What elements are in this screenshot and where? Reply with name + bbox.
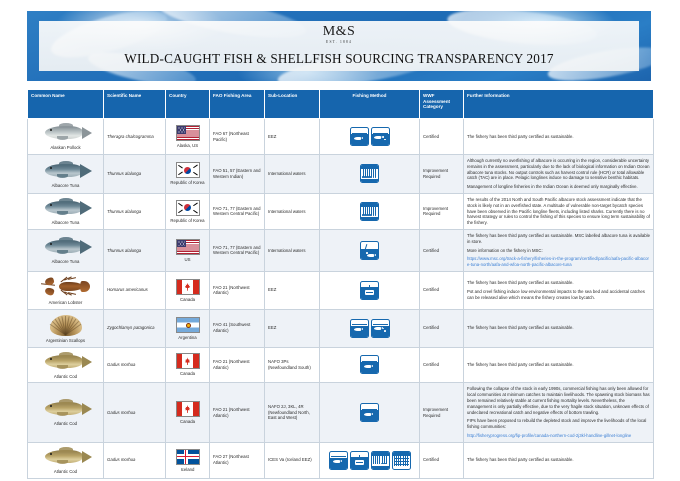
- cell-sub-location: EEZ: [265, 271, 320, 309]
- country-label: Alaska, US: [177, 143, 198, 148]
- cell-fao-area: FAO 67 (Northeast Pacific): [210, 119, 265, 155]
- species-illustration: [39, 122, 93, 144]
- cell-wwf-assessment: Improvement Required: [420, 193, 464, 229]
- cell-fishing-method: [320, 442, 420, 478]
- cell-fishing-method: [320, 383, 420, 442]
- cell-scientific-name: Thunnus alalunga: [104, 229, 166, 271]
- gillnet-icon: [392, 451, 411, 470]
- sourcing-table: Common Name Scientific Name Country FAO …: [27, 89, 654, 479]
- cell-further-information: The fishery has been third party certifi…: [464, 309, 654, 347]
- table-row: Argentinian ScallopsZygochlamys patagoni…: [28, 309, 654, 347]
- species-illustration: [39, 351, 93, 373]
- trawl-icon: [329, 451, 348, 470]
- cell-common-name: Atlantic Cod: [28, 347, 104, 383]
- cell-sub-location: ICES Va (Iceland EEZ): [265, 442, 320, 478]
- longline-icon: [371, 451, 390, 470]
- info-paragraph: More information on the fishery in MSC:: [467, 248, 650, 254]
- cell-fishing-method: [320, 193, 420, 229]
- table-row: Albacore TunaThunnus alalungaRepublic of…: [28, 155, 654, 194]
- cell-fao-area: FAO 71, 77 (Eastern and Western Central …: [210, 229, 265, 271]
- cell-wwf-assessment: Certified: [420, 271, 464, 309]
- cell-scientific-name: Gadus morhua: [104, 383, 166, 442]
- cell-fao-area: FAO 41 (Southwest Atlantic): [210, 309, 265, 347]
- cell-fao-area: FAO 21 (Northwest Atlantic): [210, 271, 265, 309]
- info-paragraph: Although currently no overfishing of alb…: [467, 158, 650, 181]
- species-illustration: [39, 160, 93, 182]
- cell-further-information: The fishery has been third party certifi…: [464, 119, 654, 155]
- species-illustration: [39, 236, 93, 258]
- cell-sub-location: EEZ: [265, 119, 320, 155]
- cell-fao-area: FAO 21 (Northwest Atlantic): [210, 347, 265, 383]
- seine-icon: [371, 319, 390, 338]
- header-banner: M&S EST. 1884 WILD-CAUGHT FISH & SHELLFI…: [27, 11, 651, 81]
- cell-country: US: [166, 229, 210, 271]
- cell-country: Canada: [166, 347, 210, 383]
- external-link[interactable]: http://fisheryprogress.org/fip-profile/c…: [467, 433, 650, 439]
- table-row: Albacore TunaThunnus alalungaUSFAO 71, 7…: [28, 229, 654, 271]
- pot-creel-icon: [360, 281, 379, 300]
- cell-country: Republic of Korea: [166, 155, 210, 194]
- cell-further-information: The fishery has been third party certifi…: [464, 442, 654, 478]
- cell-scientific-name: Thunnus alalunga: [104, 155, 166, 194]
- trawl-icon: [360, 403, 379, 422]
- cell-sub-location: EEZ: [265, 309, 320, 347]
- common-name-label: Alaskan Pollock: [50, 145, 80, 151]
- info-paragraph: The results of the 2014 North and South …: [467, 197, 650, 226]
- cell-sub-location: International waters: [265, 155, 320, 194]
- table-row: Atlantic CodGadus morhuaCanadaFAO 21 (No…: [28, 383, 654, 442]
- table-body: Alaskan PollockTheragra chalcogrammaAlas…: [28, 119, 654, 478]
- cell-further-information: The results of the 2014 North and South …: [464, 193, 654, 229]
- cell-scientific-name: Zygochlamys patagonica: [104, 309, 166, 347]
- info-paragraph: The fishery has been third party certifi…: [467, 362, 650, 368]
- document-page: M&S EST. 1884 WILD-CAUGHT FISH & SHELLFI…: [0, 0, 680, 481]
- table-row: Albacore TunaThunnus alalungaRepublic of…: [28, 193, 654, 229]
- species-illustration: [39, 398, 93, 420]
- country-label: Iceland: [181, 467, 195, 472]
- trawl-icon: [350, 319, 369, 338]
- cell-sub-location: NAFO 2J, 3KL, 4R (Newfoundland North, Ea…: [265, 383, 320, 442]
- common-name-label: Argentinian Scallops: [46, 338, 85, 344]
- species-illustration: [39, 275, 93, 299]
- cell-fishing-method: [320, 155, 420, 194]
- argentina-flag: [176, 317, 200, 333]
- longline-icon: [360, 164, 379, 183]
- cell-fishing-method: [320, 347, 420, 383]
- common-name-label: Albacore Tuna: [52, 259, 80, 265]
- cell-sub-location: International waters: [265, 193, 320, 229]
- trawl-icon: [360, 355, 379, 374]
- cell-common-name: Albacore Tuna: [28, 193, 104, 229]
- cell-scientific-name: Homarus americanus: [104, 271, 166, 309]
- info-paragraph: The fishery has been third party certifi…: [467, 233, 650, 245]
- cell-country: Canada: [166, 383, 210, 442]
- col-common-name: Common Name: [28, 90, 104, 119]
- brand-logo: M&S: [323, 25, 356, 39]
- cell-common-name: Albacore Tuna: [28, 155, 104, 194]
- table-row: Atlantic CodGadus morhuaIcelandFAO 27 (N…: [28, 442, 654, 478]
- info-paragraph: Management of longline fisheries in the …: [467, 184, 650, 190]
- country-label: Canada: [180, 297, 195, 302]
- info-paragraph: The fishery has been third party certifi…: [467, 280, 650, 286]
- trawl-icon: [350, 127, 369, 146]
- info-paragraph: The fishery has been third party certifi…: [467, 457, 650, 463]
- cell-common-name: Albacore Tuna: [28, 229, 104, 271]
- cell-fao-area: FAO 51, 57 (Eastern and Western Indian): [210, 155, 265, 194]
- pole-line-icon: [360, 241, 379, 260]
- cell-common-name: Alaskan Pollock: [28, 119, 104, 155]
- col-fishing-method: Fishing Method: [320, 90, 420, 119]
- table-row: Atlantic CodGadus morhuaCanadaFAO 21 (No…: [28, 347, 654, 383]
- cell-wwf-assessment: Certified: [420, 309, 464, 347]
- species-illustration: [39, 446, 93, 468]
- col-sub-location: Sub-Location: [265, 90, 320, 119]
- cell-scientific-name: Gadus morhua: [104, 347, 166, 383]
- country-label: Canada: [180, 371, 195, 376]
- info-paragraph: The fishery has been third party certifi…: [467, 325, 650, 331]
- common-name-label: Atlantic Cod: [54, 374, 77, 380]
- cell-scientific-name: Gadus morhua: [104, 442, 166, 478]
- species-illustration: [39, 197, 93, 219]
- cell-scientific-name: Thunnus alalunga: [104, 193, 166, 229]
- cell-wwf-assessment: Improvement Required: [420, 155, 464, 194]
- cell-wwf-assessment: Certified: [420, 119, 464, 155]
- col-scientific-name: Scientific Name: [104, 90, 166, 119]
- table-row: Alaskan PollockTheragra chalcogrammaAlas…: [28, 119, 654, 155]
- brand-established: EST. 1884: [326, 41, 352, 45]
- col-fao-fishing-area: FAO Fishing Area: [210, 90, 265, 119]
- cell-fao-area: FAO 21 (Northwest Atlantic): [210, 383, 265, 442]
- cell-wwf-assessment: Certified: [420, 442, 464, 478]
- info-paragraph: FIPs have been proposed to rebuild the d…: [467, 418, 650, 430]
- cell-common-name: Atlantic Cod: [28, 442, 104, 478]
- cell-fishing-method: [320, 119, 420, 155]
- pot-creel-icon: [350, 451, 369, 470]
- cell-further-information: Following the collapse of the stock in e…: [464, 383, 654, 442]
- cell-fao-area: FAO 27 (Northeast Atlantic): [210, 442, 265, 478]
- cell-further-information: The fishery has been third party certifi…: [464, 229, 654, 271]
- country-label: Republic of Korea: [170, 218, 204, 223]
- cell-country: Alaska, US: [166, 119, 210, 155]
- cell-wwf-assessment: Certified: [420, 229, 464, 271]
- cell-fishing-method: [320, 271, 420, 309]
- us-flag: [176, 125, 200, 141]
- info-paragraph: Following the collapse of the stock in e…: [467, 386, 650, 415]
- canada-flag: [176, 401, 200, 417]
- page-title: WILD-CAUGHT FISH & SHELLFISH SOURCING TR…: [124, 51, 553, 67]
- table-row: American LobsterHomarus americanusCanada…: [28, 271, 654, 309]
- south-korea-flag: [176, 162, 200, 178]
- us-flag: [176, 239, 200, 255]
- common-name-label: Albacore Tuna: [52, 220, 80, 226]
- external-link[interactable]: https://www.msc.org/track-a-fishery/fish…: [467, 256, 650, 268]
- cell-further-information: The fishery has been third party certifi…: [464, 271, 654, 309]
- cell-country: Republic of Korea: [166, 193, 210, 229]
- cell-fishing-method: [320, 309, 420, 347]
- col-further-information: Further Information: [464, 90, 654, 119]
- common-name-label: Atlantic Cod: [54, 421, 77, 427]
- species-illustration: [46, 313, 86, 337]
- cell-sub-location: NAFO 3Ps (Newfoundland South): [265, 347, 320, 383]
- common-name-label: American Lobster: [49, 300, 83, 306]
- country-label: Republic of Korea: [170, 180, 204, 185]
- longline-icon: [360, 202, 379, 221]
- seine-icon: [371, 127, 390, 146]
- cell-country: Argentina: [166, 309, 210, 347]
- canada-flag: [176, 353, 200, 369]
- iceland-flag: [176, 449, 200, 465]
- cell-further-information: The fishery has been third party certifi…: [464, 347, 654, 383]
- cell-country: Iceland: [166, 442, 210, 478]
- common-name-label: Atlantic Cod: [54, 469, 77, 475]
- info-paragraph: The fishery has been third party certifi…: [467, 134, 650, 140]
- col-country: Country: [166, 90, 210, 119]
- info-paragraph: Pot and creel fishing induce low environ…: [467, 289, 650, 301]
- cell-scientific-name: Theragra chalcogramma: [104, 119, 166, 155]
- cell-wwf-assessment: Improvement Required: [420, 383, 464, 442]
- banner-title-panel: M&S EST. 1884 WILD-CAUGHT FISH & SHELLFI…: [39, 21, 639, 71]
- cell-further-information: Although currently no overfishing of alb…: [464, 155, 654, 194]
- country-label: US: [185, 257, 191, 262]
- cell-wwf-assessment: Certified: [420, 347, 464, 383]
- cell-country: Canada: [166, 271, 210, 309]
- cell-common-name: Atlantic Cod: [28, 383, 104, 442]
- canada-flag: [176, 279, 200, 295]
- country-label: Canada: [180, 419, 195, 424]
- col-wwf-assessment-category: WWF Assessment Category: [420, 90, 464, 119]
- cell-common-name: American Lobster: [28, 271, 104, 309]
- cell-sub-location: International waters: [265, 229, 320, 271]
- south-korea-flag: [176, 200, 200, 216]
- table-header-row: Common Name Scientific Name Country FAO …: [28, 90, 654, 119]
- country-label: Argentina: [178, 335, 196, 340]
- cell-fao-area: FAO 71, 77 (Eastern and Western Central …: [210, 193, 265, 229]
- common-name-label: Albacore Tuna: [52, 183, 80, 189]
- cell-common-name: Argentinian Scallops: [28, 309, 104, 347]
- cell-fishing-method: [320, 229, 420, 271]
